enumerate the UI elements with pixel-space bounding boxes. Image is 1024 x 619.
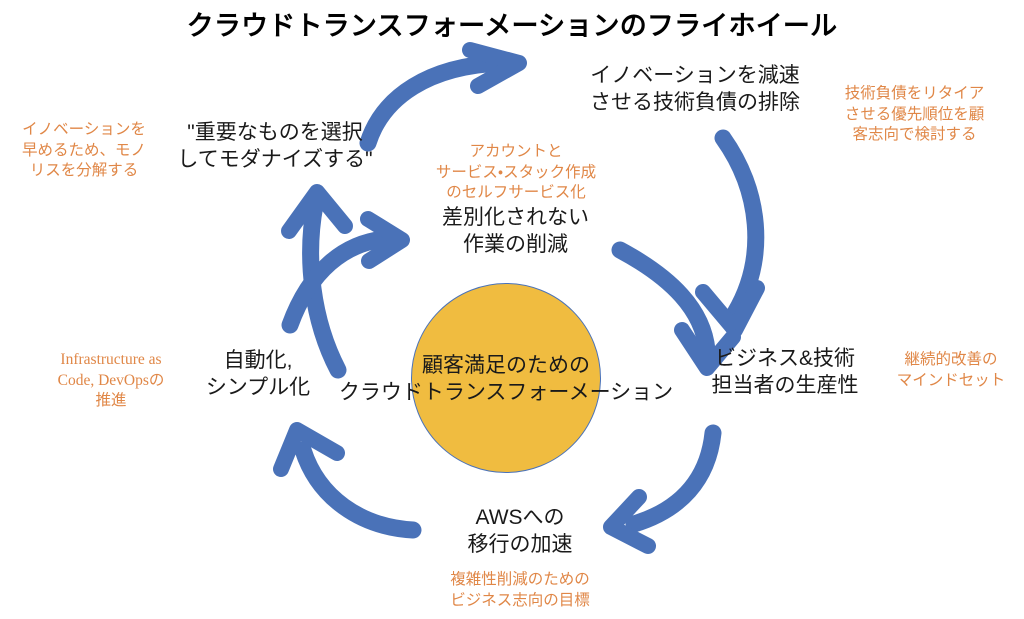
node-tech-debt-line1: イノベーションを減速 [570,63,820,90]
flywheel-diagram: クラウドトランスフォーメーションのフライホイール [0,0,1024,619]
node-business-tech-productivity-line2: 担当者の生産性 [690,373,880,400]
node-business-tech-productivity-line1: ビジネス&技術 [690,346,880,373]
node-modernize-quote: "重要なものを選択 してモダナイズする" [150,120,400,174]
note-account-selfservice-line3: のセルフサービス化 [396,183,636,204]
note-monolith-decompose-line3: リスを分解する [4,161,164,182]
note-tech-debt-retire-line1: 技術負債をリタイア [812,84,1017,105]
note-iac-devops: Infrastructure as Code, DevOpsの 推進 [30,350,192,412]
note-monolith-decompose-line1: イノベーションを [4,120,164,141]
note-account-selfservice-line1: アカウントと [396,142,636,163]
note-tech-debt-retire-line3: 客志向で検討する [812,125,1017,146]
node-aws-migration-line1: AWSへの [410,505,630,532]
note-tech-debt-retire-line2: させる優先順位を顧 [812,105,1017,126]
arrow-techdebt-to-business [703,138,757,330]
node-modernize-quote-line1: "重要なものを選択 [150,120,400,147]
note-account-selfservice: アカウントと サービス・スタック作成 のセルフサービス化 [396,142,636,204]
node-automation-simplify-line2: シンプル化 [178,375,338,402]
node-tech-debt: イノベーションを減速 させる技術負債の排除 [570,63,820,117]
note-complexity-reduction-line1: 複雑性削減のための [410,570,630,591]
note-continuous-improvement-line1: 継続的改善の [878,350,1024,371]
note-continuous-improvement: 継続的改善の マインドセット [878,350,1024,391]
node-undifferentiated-work: 差別化されない 作業の削減 [403,205,628,259]
note-continuous-improvement-line2: マインドセット [878,371,1024,392]
arrow-aws-to-automation [281,430,413,530]
note-monolith-decompose-line2: 早めるため、モノ [4,141,164,162]
node-undifferentiated-work-line2: 作業の削減 [403,232,628,259]
note-complexity-reduction: 複雑性削減のための ビジネス志向の目標 [410,570,630,611]
node-business-tech-productivity: ビジネス&技術 担当者の生産性 [690,346,880,400]
note-complexity-reduction-line2: ビジネス志向の目標 [410,591,630,612]
note-monolith-decompose: イノベーションを 早めるため、モノ リスを分解する [4,120,164,182]
note-iac-devops-line3: 推進 [30,391,192,412]
node-tech-debt-line2: させる技術負債の排除 [570,90,820,117]
note-iac-devops-line2: Code, DevOpsの [30,371,192,392]
node-automation-simplify: 自動化, シンプル化 [178,348,338,402]
node-modernize-quote-line2: してモダナイズする" [150,147,400,174]
node-aws-migration: AWSへの 移行の加速 [410,505,630,559]
note-account-selfservice-line2: サービス・スタック作成 [396,163,636,184]
node-undifferentiated-work-line1: 差別化されない [403,205,628,232]
note-tech-debt-retire: 技術負債をリタイア させる優先順位を顧 客志向で検討する [812,84,1017,146]
node-automation-simplify-line1: 自動化, [178,348,338,375]
note-iac-devops-line1: Infrastructure as [30,350,192,371]
node-aws-migration-line2: 移行の加速 [410,532,630,559]
